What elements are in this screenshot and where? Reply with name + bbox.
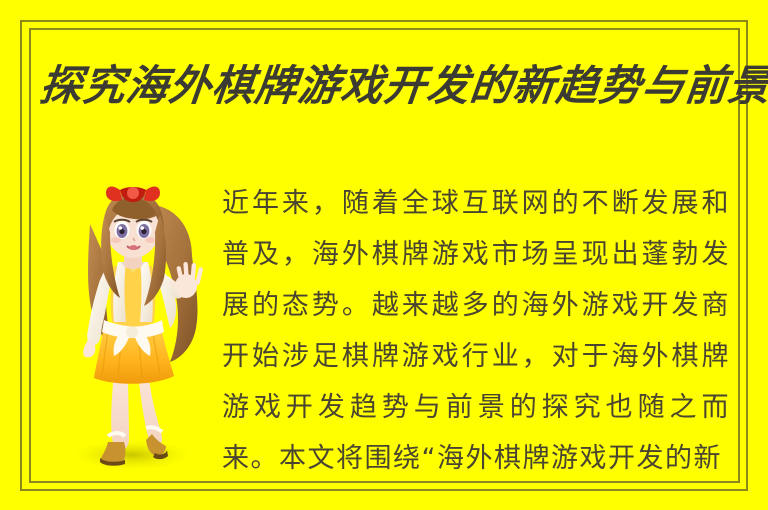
body-paragraph: 近年来，随着全球互联网的不断发展和普及，海外棋牌游戏市场呈现出蓬勃发展的态势。越…	[222, 178, 730, 484]
poster-canvas: 探究海外棋牌游戏开发的新趋势与前景	[0, 0, 768, 510]
anime-girl-character-illustration	[52, 170, 228, 470]
page-title: 探究海外棋牌游戏开发的新趋势与前景	[37, 58, 743, 114]
body-paragraph-text: 近年来，随着全球互联网的不断发展和普及，海外棋牌游戏市场呈现出蓬勃发展的态势。越…	[222, 178, 730, 484]
